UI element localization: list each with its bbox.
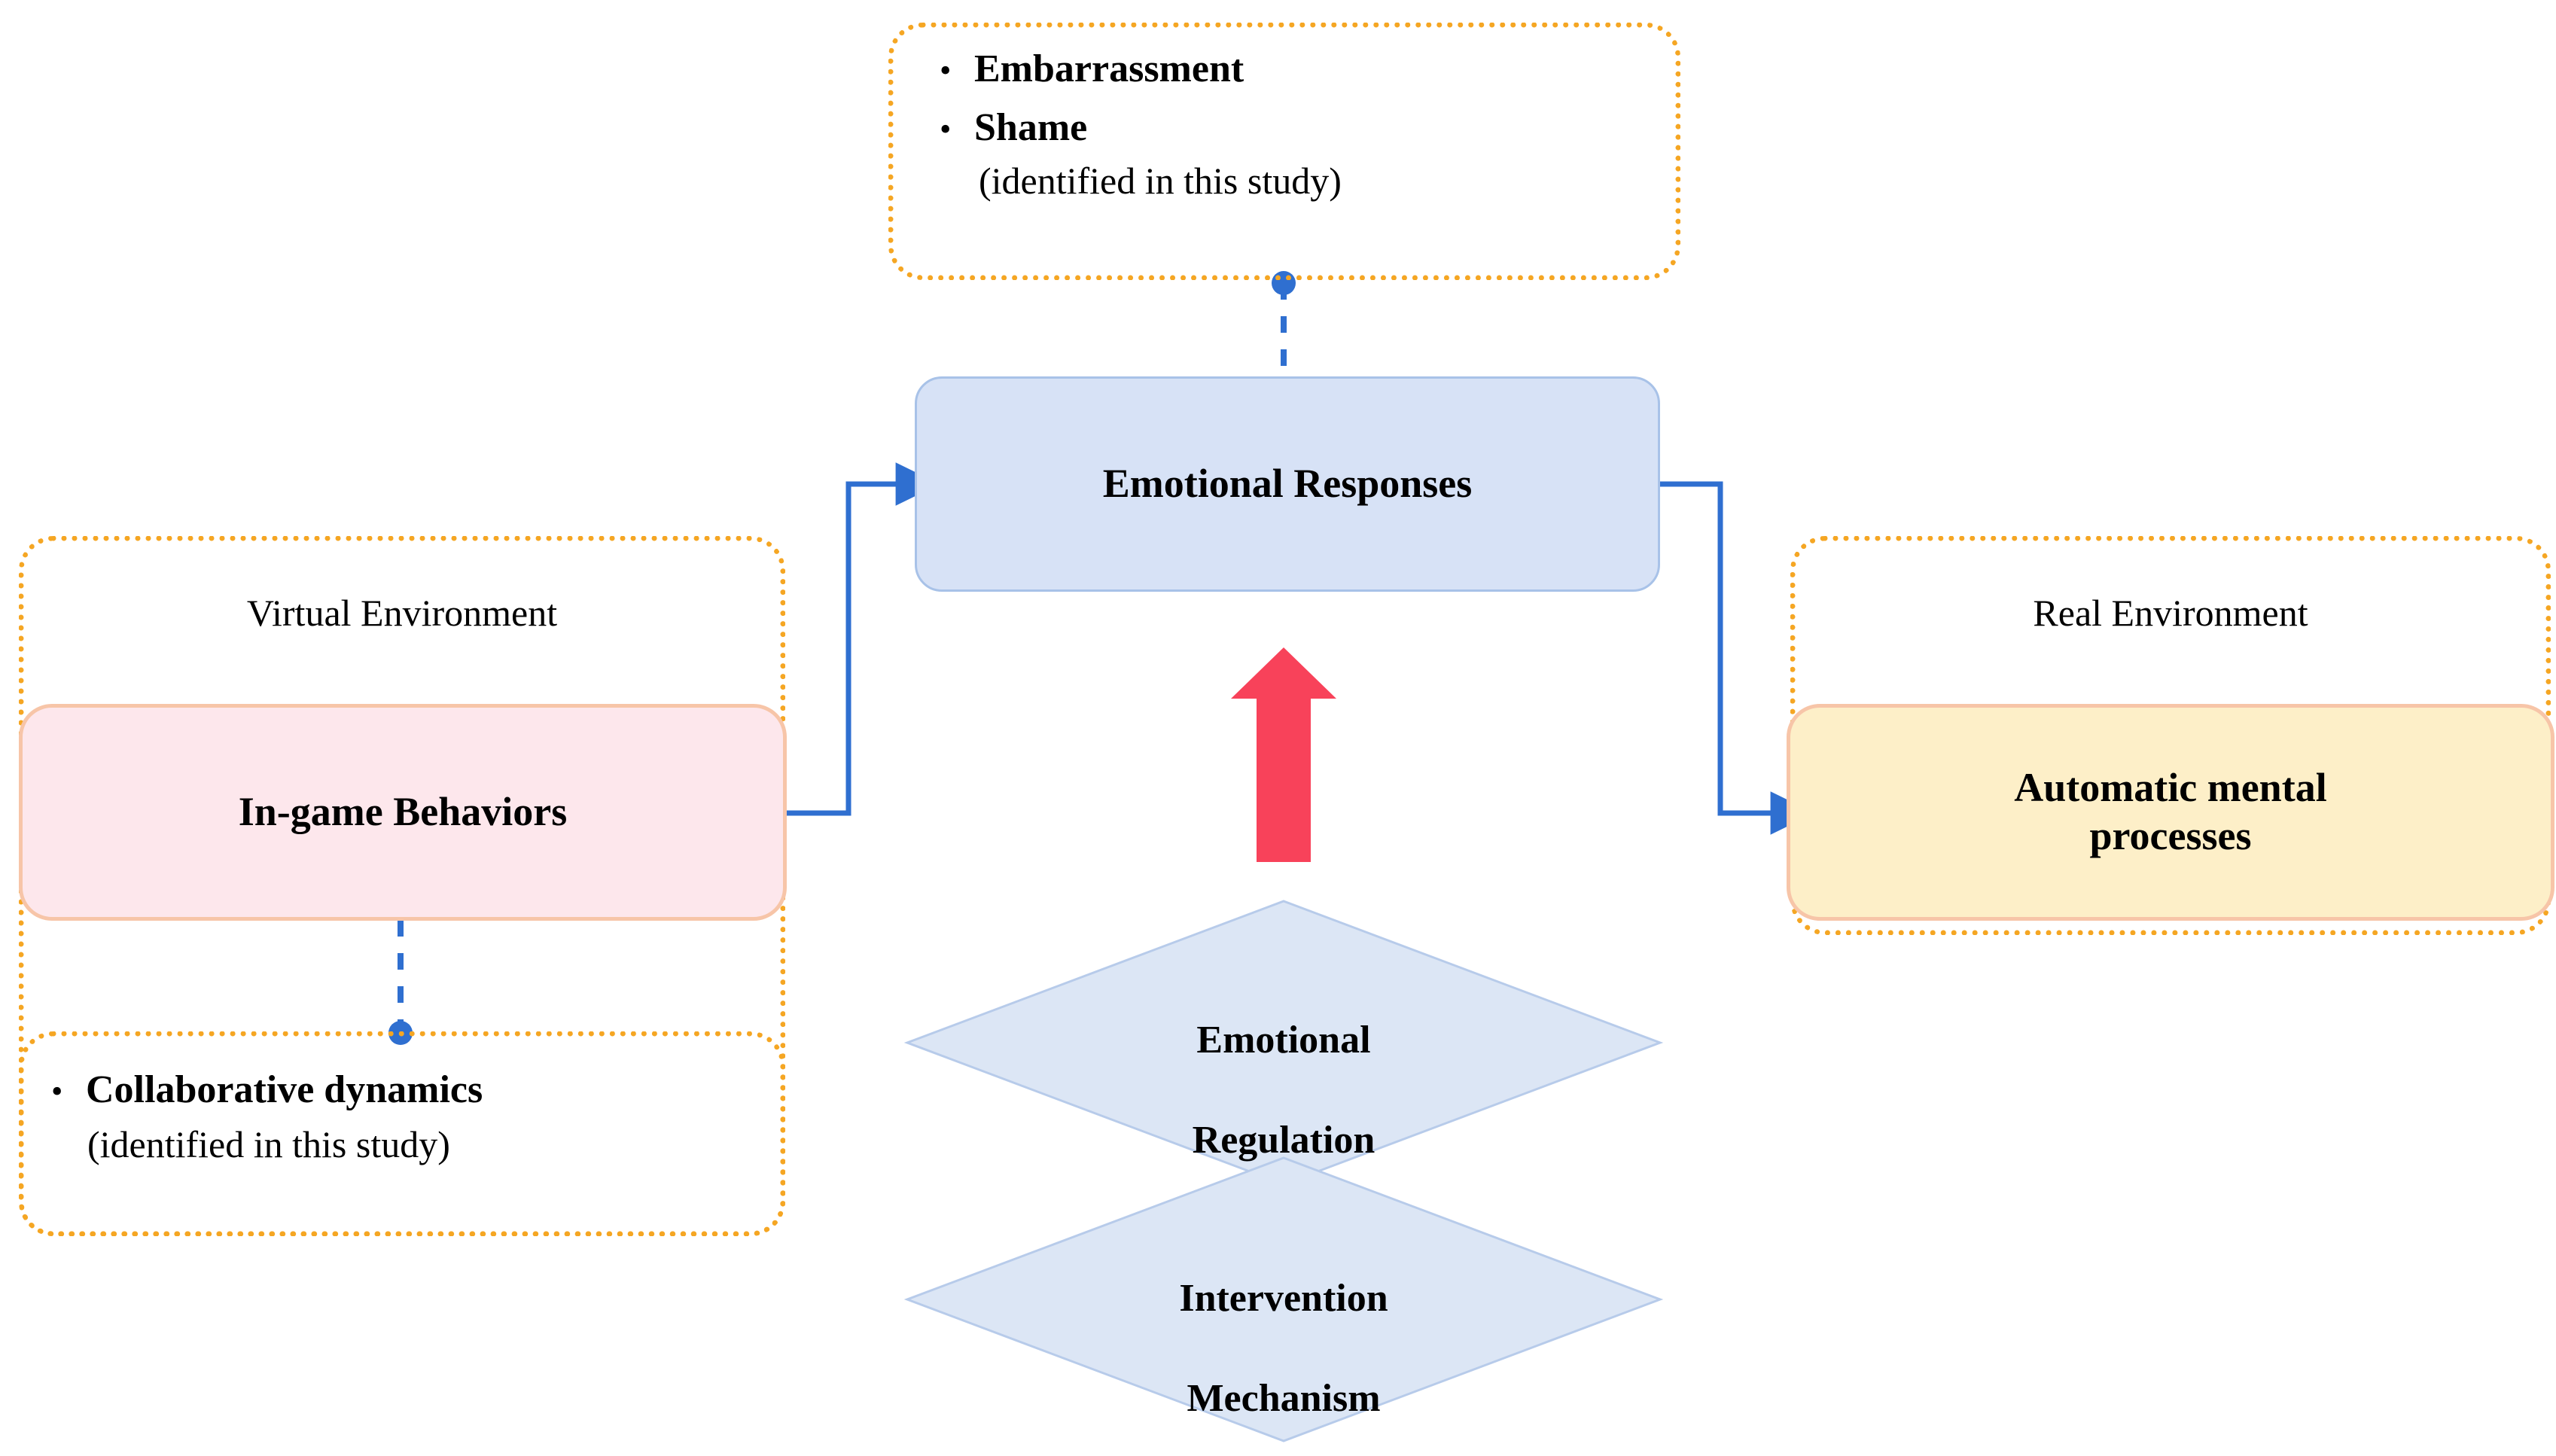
emotion-findings-item-1-label: Shame (974, 105, 1087, 151)
virtual-environment-caption: Virtual Environment (19, 591, 785, 635)
diamond-intervention-mechanism-line1: Intervention (1179, 1277, 1388, 1320)
behavior-findings-item-0-label: Collaborative dynamics (86, 1068, 483, 1113)
node-automatic-mental-processes-label-line1: Automatic mental (2014, 764, 2326, 812)
emotion-findings-note: (identified in this study) (979, 158, 1662, 203)
diamond-intervention-mechanism-line2: Mechanism (1187, 1377, 1380, 1420)
bullet-icon: • (940, 111, 974, 149)
real-environment-caption: Real Environment (1790, 591, 2551, 635)
connector-emotional-to-automatic (1660, 484, 1777, 813)
diamond-emotional-regulation[interactable]: Emotional Regulation (1058, 965, 1510, 1165)
connector-ingame-to-emotional (787, 484, 902, 813)
node-in-game-behaviors-label: In-game Behaviors (239, 788, 567, 836)
node-in-game-behaviors[interactable]: In-game Behaviors (19, 704, 787, 921)
emotion-findings-item-0: • Embarrassment (940, 47, 1662, 92)
emotion-findings-item-0-label: Embarrassment (974, 47, 1244, 92)
node-automatic-mental-processes[interactable]: Automatic mental processes (1787, 704, 2554, 921)
bullet-icon: • (51, 1073, 86, 1111)
bullet-icon: • (940, 52, 974, 90)
behavior-findings-list: • Collaborative dynamics (identified in … (51, 1068, 774, 1167)
emotion-findings-list: • Embarrassment • Shame (identified in t… (940, 47, 1662, 203)
node-emotional-responses[interactable]: Emotional Responses (915, 376, 1660, 592)
diamond-intervention-mechanism[interactable]: Intervention Mechanism (1058, 1223, 1510, 1424)
node-emotional-responses-label: Emotional Responses (1103, 460, 1473, 508)
emphasis-arrow-up-icon (1231, 647, 1336, 862)
emotion-findings-item-1: • Shame (940, 105, 1662, 151)
diamond-emotional-regulation-line1: Emotional (1196, 1019, 1370, 1062)
diamond-emotional-regulation-line2: Regulation (1193, 1119, 1375, 1162)
diagram-canvas: Virtual Environment Real Environment • E… (0, 0, 2556, 1456)
node-automatic-mental-processes-label-line2: processes (2090, 812, 2252, 861)
behavior-findings-note: (identified in this study) (87, 1122, 774, 1167)
behavior-findings-item-0: • Collaborative dynamics (51, 1068, 774, 1113)
